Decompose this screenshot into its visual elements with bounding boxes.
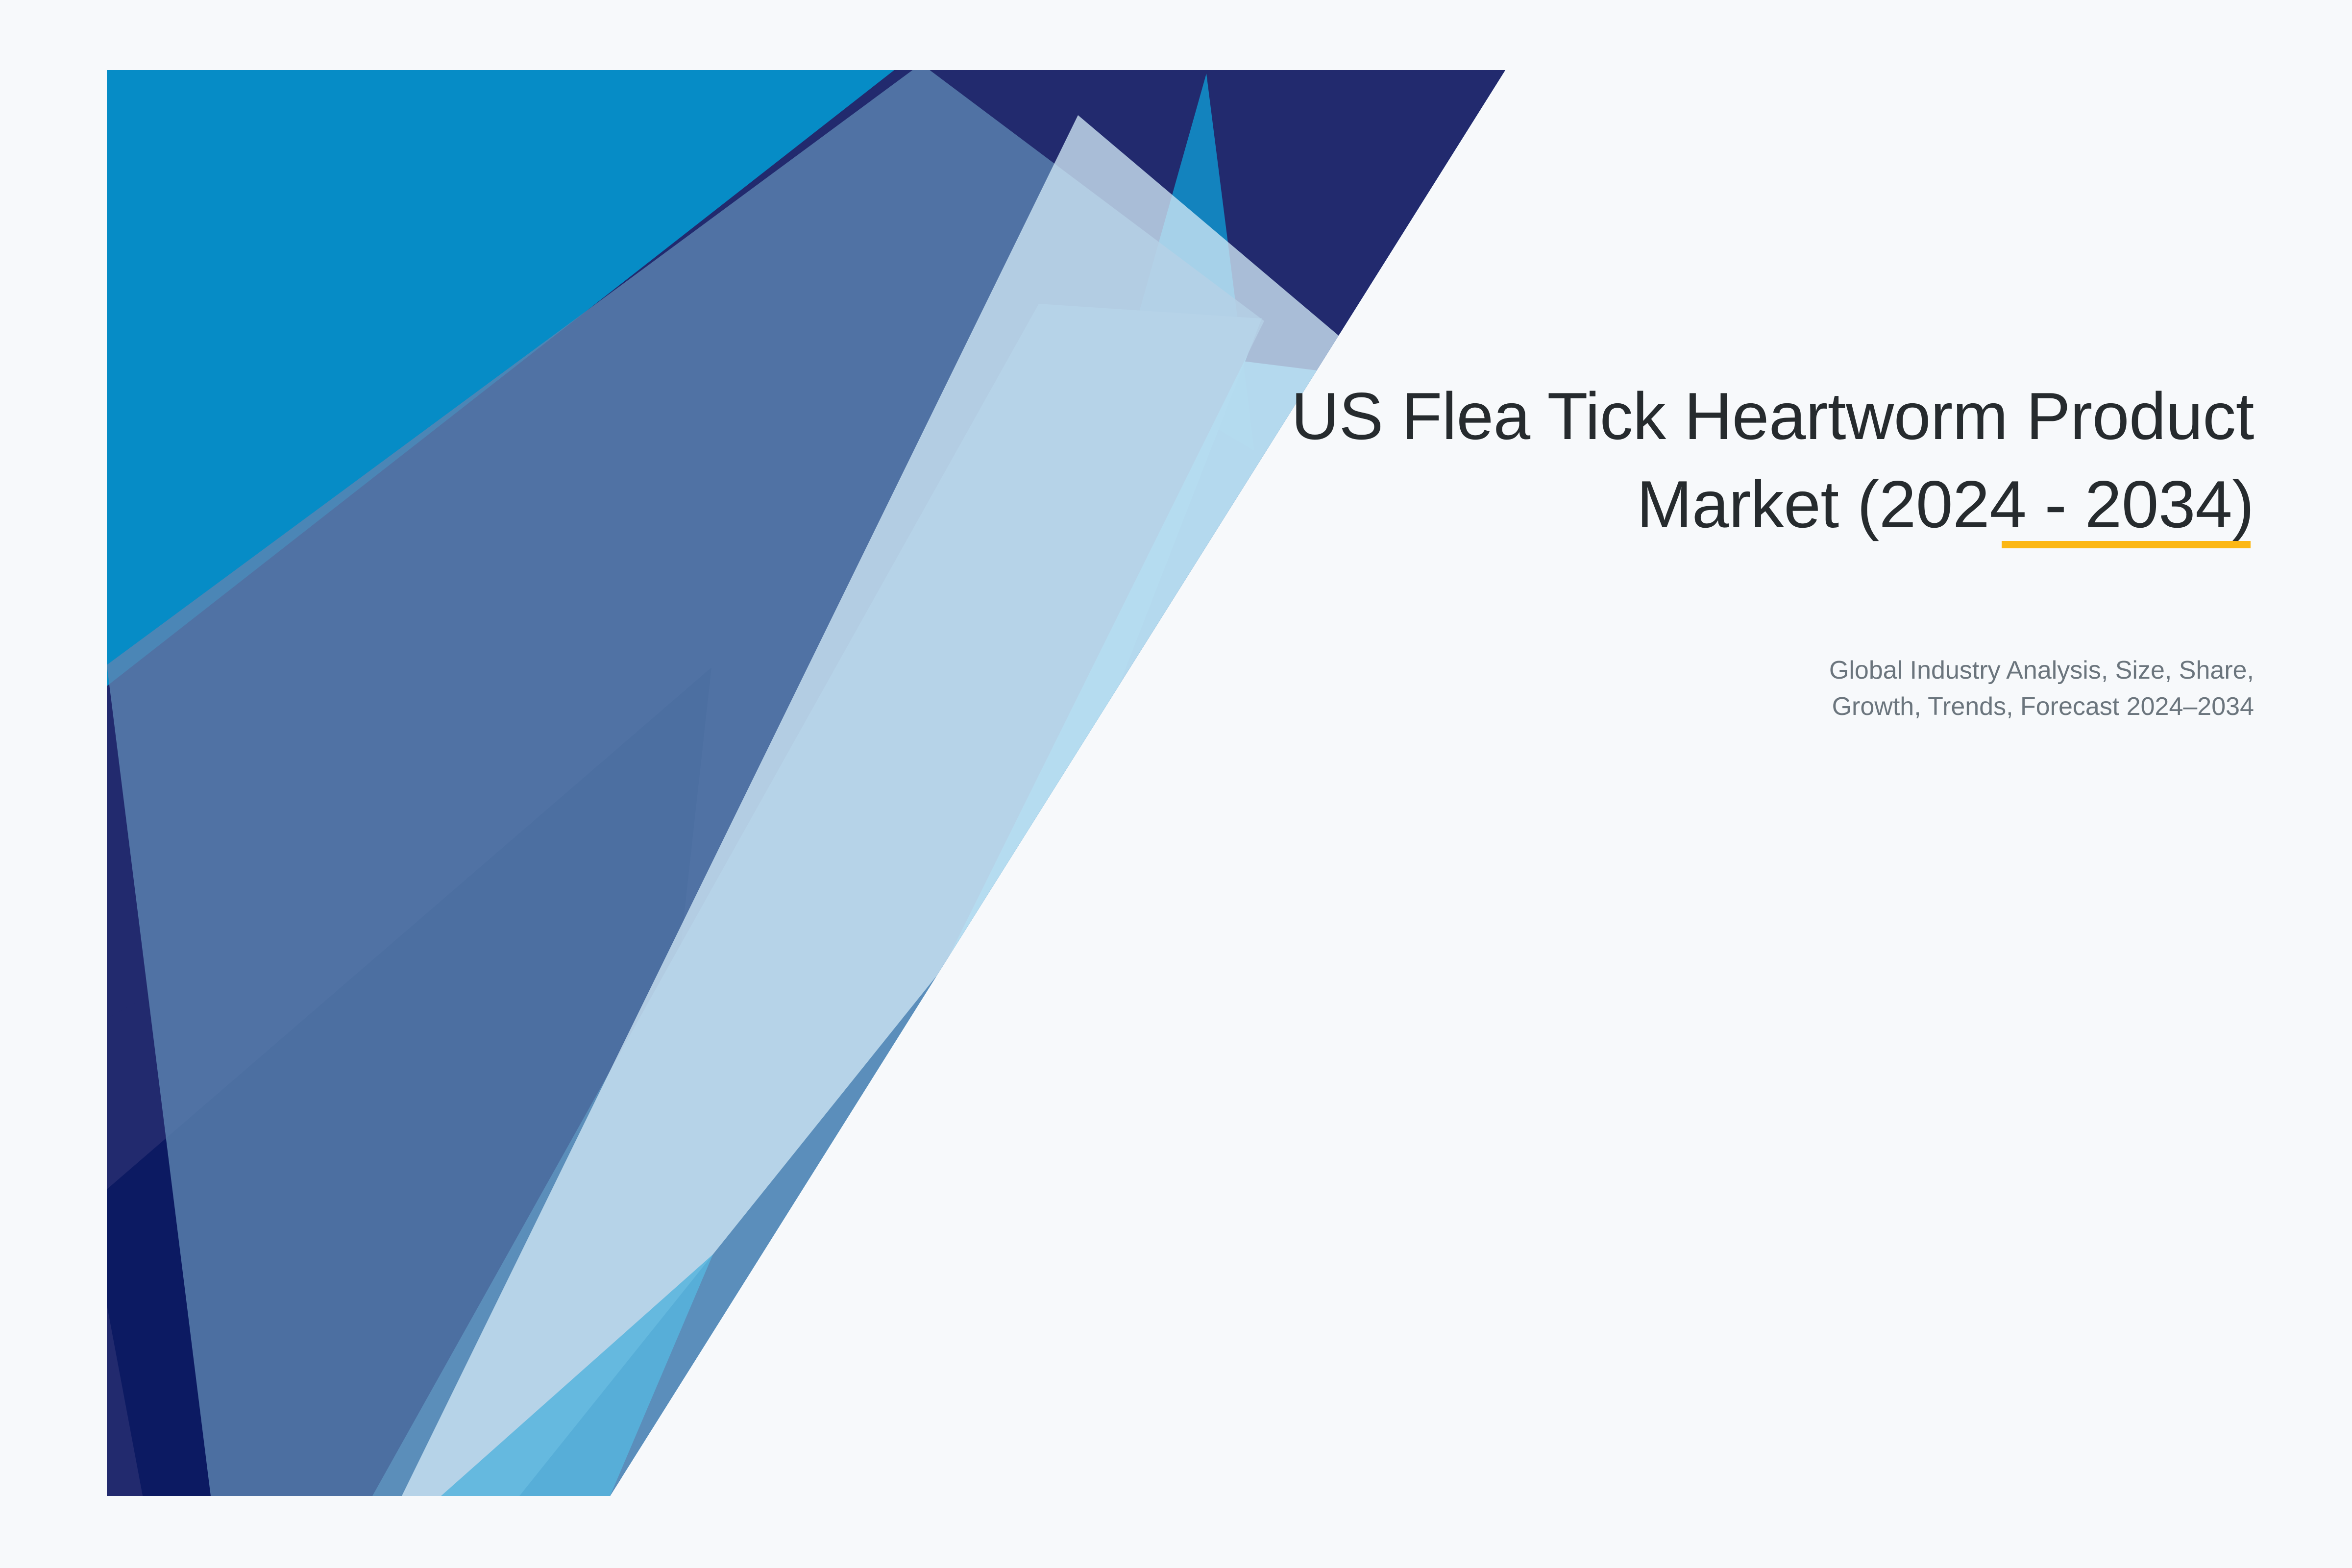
cover-text-block: US Flea Tick Heartworm ProductMarket (20… — [1019, 372, 2254, 548]
abstract-geometric-cover-graphic — [0, 0, 2352, 1568]
title-underline-accent — [2002, 541, 2251, 548]
page-title-line-1: US Flea Tick Heartworm Product — [1291, 379, 2254, 453]
page-title-line-2: Market (2024 - 2034) — [1637, 467, 2254, 541]
page-subtitle-line-2: Growth, Trends, Forecast 2024–2034 — [1832, 692, 2254, 721]
page-subtitle-line-1: Global Industry Analysis, Size, Share, — [1829, 656, 2254, 685]
report-cover-page: US Flea Tick Heartworm ProductMarket (20… — [0, 0, 2352, 1568]
page-title: US Flea Tick Heartworm ProductMarket (20… — [1019, 372, 2254, 548]
page-subtitle: Global Industry Analysis, Size, Share,Gr… — [1274, 653, 2254, 725]
